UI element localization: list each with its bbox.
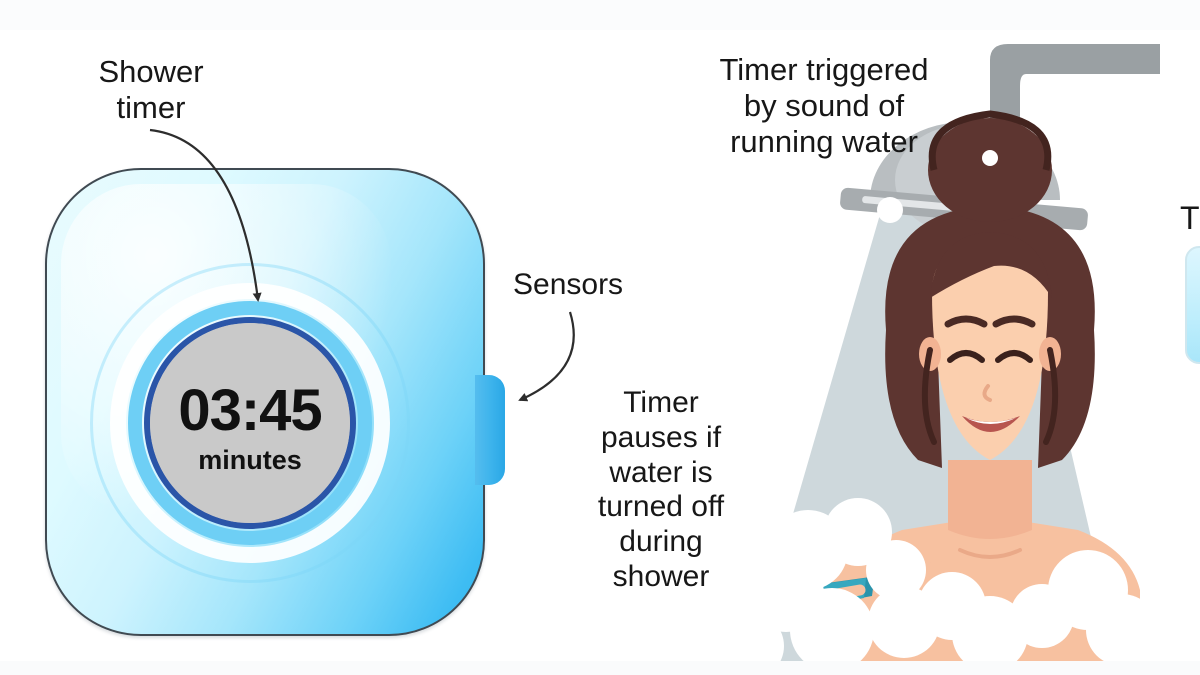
dial-face: 03:45 minutes bbox=[150, 323, 350, 523]
cropped-right-label: T bbox=[1180, 200, 1200, 237]
sensor-button[interactable] bbox=[475, 375, 505, 485]
shower-timer-device: 03:45 minutes bbox=[45, 168, 513, 638]
top-band bbox=[0, 0, 1200, 30]
cropped-secondary-device bbox=[1185, 246, 1200, 364]
label-sensors: Sensors bbox=[513, 268, 623, 303]
dial-rings: 03:45 minutes bbox=[90, 263, 410, 583]
label-timer-triggered: Timer triggered by sound of running wate… bbox=[688, 52, 960, 160]
timer-unit-label: minutes bbox=[198, 447, 302, 474]
neck bbox=[948, 460, 1032, 539]
label-shower-timer: Shower timer bbox=[36, 54, 266, 126]
infographic-canvas: T 03:45 minutes Shower timer Sensors Tim… bbox=[0, 0, 1200, 675]
bottom-band bbox=[0, 661, 1200, 675]
timer-time-value: 03:45 bbox=[178, 382, 321, 440]
label-timer-pauses: Timer pauses if water is turned off duri… bbox=[566, 386, 756, 595]
